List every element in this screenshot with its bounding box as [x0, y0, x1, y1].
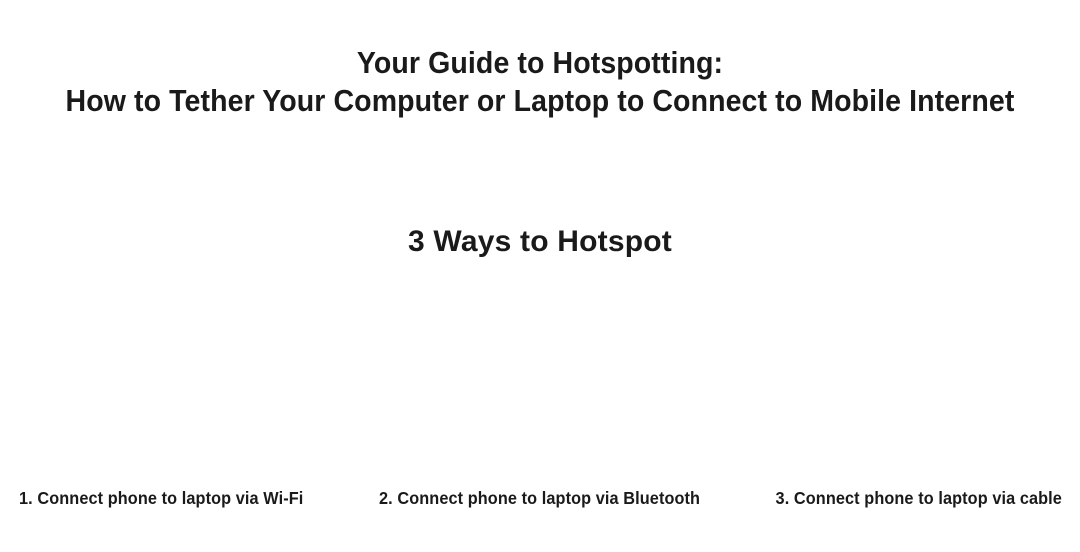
section-heading: 3 Ways to Hotspot — [408, 222, 672, 262]
title-line-2: How to Tether Your Computer or Laptop to… — [43, 82, 1037, 120]
method-item-3: 3. Connect phone to laptop via cable — [720, 486, 1080, 510]
method-caption-1: 1. Connect phone to laptop via Wi-Fi — [19, 486, 303, 510]
illustration-area — [0, 278, 1080, 480]
illustration-slot-bluetooth — [360, 278, 720, 480]
illustration-slot-wifi — [0, 278, 360, 480]
hotspotting-infographic: Your Guide to Hotspotting: How to Tether… — [0, 0, 1080, 552]
method-item-1: 1. Connect phone to laptop via Wi-Fi — [0, 486, 360, 510]
illustration-slot-cable — [720, 278, 1080, 480]
method-item-2: 2. Connect phone to laptop via Bluetooth — [360, 486, 720, 510]
method-caption-2: 2. Connect phone to laptop via Bluetooth — [379, 486, 700, 510]
method-caption-row: 1. Connect phone to laptop via Wi-Fi 2. … — [0, 486, 1080, 516]
page-title: Your Guide to Hotspotting: How to Tether… — [0, 44, 1080, 120]
section-heading-container: 3 Ways to Hotspot — [0, 222, 1080, 262]
title-line-1: Your Guide to Hotspotting: — [43, 44, 1037, 82]
method-caption-3: 3. Connect phone to laptop via cable — [776, 486, 1062, 510]
